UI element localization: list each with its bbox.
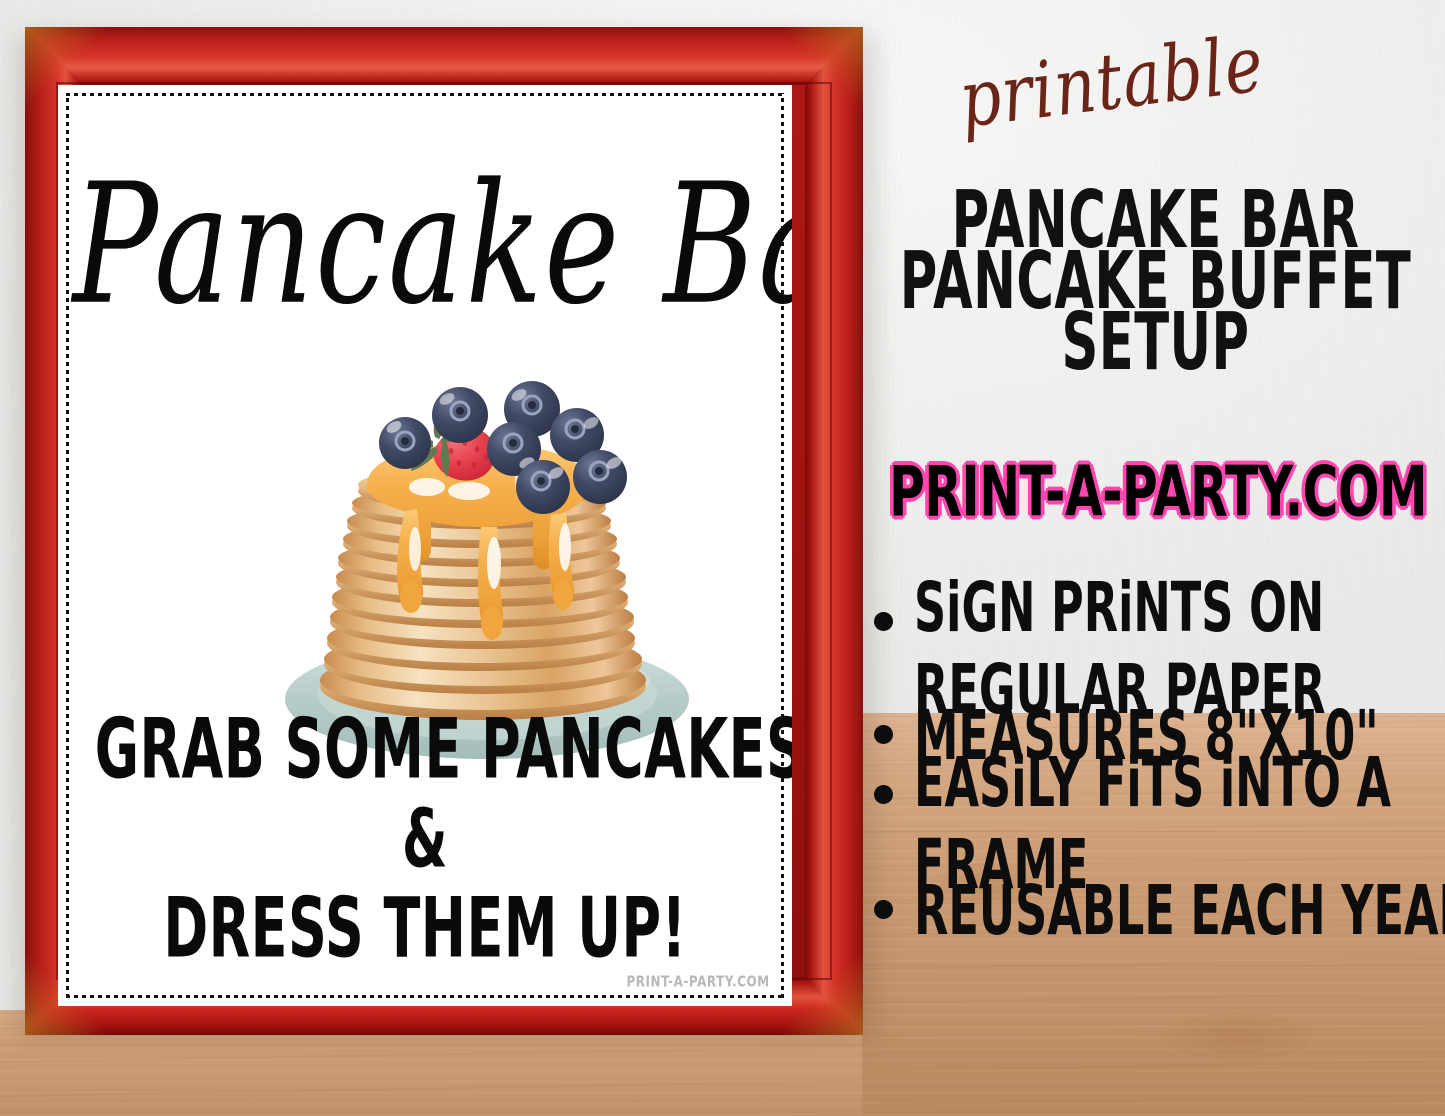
- website-url[interactable]: PRINT-A-PARTY.COM: [889, 452, 1422, 533]
- bullet-dot-icon: [874, 725, 893, 744]
- sign-message-block: GRAB SOME PANCAKES & DRESS THEM UP!: [58, 720, 792, 960]
- bullet-dot-icon: [874, 612, 893, 631]
- bullet-reusable: REUSABLE EACH YEAR: [866, 884, 1445, 940]
- printable-sign: Pancake Bar: [58, 85, 792, 1006]
- blueberry: [432, 387, 488, 443]
- marketing-column: printable PANCAKE BAR PANCAKE BUFFET SET…: [866, 0, 1445, 1116]
- sign-watermark: PRINT-A-PARTY.COM: [627, 974, 770, 992]
- bullet-4-line-1: REUSABLE EACH YEAR: [914, 871, 1418, 952]
- blueberry: [573, 450, 627, 504]
- sign-message-ampersand: &: [95, 798, 756, 880]
- bullet-fits-frame: EASiLY FiTS iNTO A FRAME: [866, 769, 1445, 880]
- sign-message-line-1: GRAB SOME PANCAKES: [95, 709, 756, 793]
- printable-badge: printable: [954, 18, 1268, 145]
- sign-message-line-3: DRESS THEM UP!: [95, 887, 756, 971]
- bullet-prints-on-regular-paper: SiGN PRiNTS ON REGULAR PAPER: [866, 594, 1445, 705]
- feature-bullet-list: SiGN PRiNTS ON REGULAR PAPER MEASURES 8"…: [866, 594, 1445, 940]
- headline-line-3: SETUP: [886, 298, 1424, 386]
- bullet-3-line-1: EASiLY FiTS iNTO A: [914, 743, 1418, 824]
- blueberry: [379, 417, 431, 469]
- bullet-dot-icon: [874, 785, 893, 804]
- sign-script-title: Pancake Bar: [73, 162, 778, 328]
- bullet-dot-icon: [874, 900, 893, 919]
- product-headline: PANCAKE BAR PANCAKE BUFFET SETUP: [866, 190, 1445, 373]
- blueberry: [516, 460, 570, 514]
- product-listing-image: Pancake Bar: [0, 0, 1445, 1116]
- bullet-1-line-1: SiGN PRiNTS ON: [914, 568, 1418, 649]
